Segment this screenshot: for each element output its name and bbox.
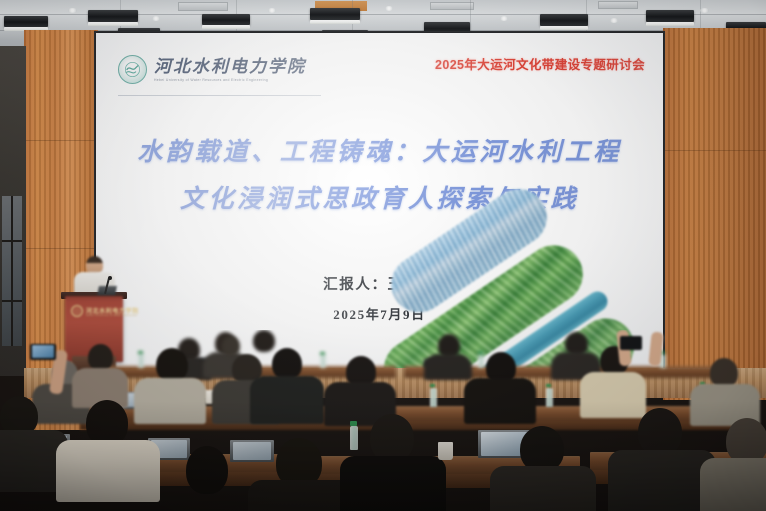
audience-torso <box>700 458 766 511</box>
water-bottle <box>350 426 358 450</box>
audience-torso <box>56 440 160 502</box>
audience-head <box>88 344 113 371</box>
water-bottle <box>546 388 553 407</box>
audience-torso <box>248 480 354 511</box>
audience-area <box>0 330 766 511</box>
audience-torso <box>340 456 446 511</box>
stage-light <box>646 10 694 22</box>
lecture-hall-photo: 河北水利电力学院 Hebei University of Water Resou… <box>0 0 766 511</box>
ceiling-vent <box>598 1 638 9</box>
paper-cup <box>438 442 453 460</box>
audience-torso <box>250 376 324 424</box>
projection-screen: 河北水利电力学院 Hebei University of Water Resou… <box>96 33 663 373</box>
stage-light <box>88 10 138 22</box>
ceiling-vent <box>430 2 474 10</box>
conference-banner-text: 2025年大运河文化带建设专题研讨会 <box>435 54 645 73</box>
podium-label-en: Hebei University of Water Resources <box>86 314 137 317</box>
stage-light <box>4 16 48 27</box>
audience-head <box>222 336 240 356</box>
podium-seal-icon <box>71 305 83 317</box>
audience-head <box>370 414 414 462</box>
water-bottle <box>320 355 326 368</box>
university-emblem-icon <box>118 55 147 84</box>
audience-torso <box>580 372 646 418</box>
audience-head <box>638 408 682 456</box>
ceiling-vent <box>178 2 228 11</box>
university-logo: 河北水利电力学院 Hebei University of Water Resou… <box>118 55 306 84</box>
ceiling-downlight <box>385 6 393 11</box>
audience-torso <box>464 378 536 424</box>
audience-head <box>186 446 228 494</box>
water-bottle <box>430 388 437 407</box>
water-bottle <box>138 354 144 368</box>
ceiling-downlight <box>610 18 618 23</box>
ceiling-downlight <box>500 16 508 21</box>
ceiling-downlight <box>68 8 77 13</box>
audience-torso <box>490 466 596 511</box>
ceiling-downlight <box>152 16 160 21</box>
audience-head <box>156 348 188 382</box>
ceiling-downlight <box>268 8 276 13</box>
university-name-cn: 河北水利电力学院 <box>154 58 306 75</box>
slide-title-line-2: 文化浸润式思政育人探索与实践 <box>96 179 663 215</box>
smartphone <box>620 336 642 350</box>
stage-light <box>310 8 360 20</box>
audience-torso <box>134 378 206 424</box>
audience-head <box>253 330 275 352</box>
audience-torso <box>424 354 472 380</box>
ceiling-downlight <box>700 8 709 13</box>
stage-light <box>202 14 250 25</box>
slide-title-line-1: 水韵载道、工程铸魂：大运河水利工程 <box>96 132 663 168</box>
stage-light <box>540 14 588 26</box>
water-bottle <box>478 354 484 368</box>
logo-divider <box>118 95 321 96</box>
university-name-en: Hebei University of Water Resources and … <box>154 78 306 82</box>
microphone-icon <box>108 276 112 280</box>
